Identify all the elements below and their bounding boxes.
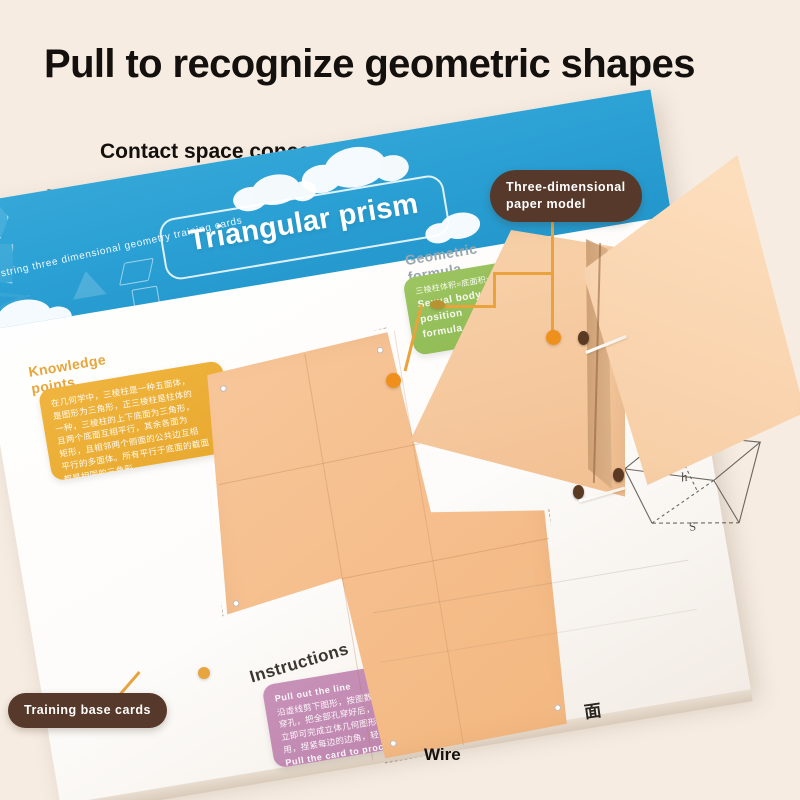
hexagon-outline-icon [0, 197, 12, 244]
rectangle-outline-icon [131, 286, 163, 330]
connector-segment [551, 216, 554, 274]
connector-dot-geometric-formula [430, 300, 445, 309]
product-marketing-image: Pull to recognize geometric shapes Conta… [0, 0, 800, 800]
model-hole [578, 331, 589, 345]
connector-segment [437, 305, 495, 308]
callout-badge-paper-model: Three-dimensional paper model [490, 170, 642, 222]
model-hole [613, 468, 624, 482]
connector-dot-model [546, 330, 561, 345]
callout-badge-training-base-cards: Training base cards [8, 693, 167, 728]
model-hole [573, 485, 584, 499]
page-title: Pull to recognize geometric shapes [44, 42, 695, 87]
connector-segment [551, 272, 554, 326]
cloud-icon [0, 296, 53, 332]
face-character-label: 面 [582, 696, 602, 723]
connector-segment [493, 272, 496, 308]
connector-dot-net [386, 373, 401, 388]
connector-segment [493, 272, 553, 275]
triangle-outline-icon [69, 268, 107, 299]
diamond-outline-icon [119, 258, 154, 286]
wire-label: Wire [424, 745, 461, 765]
quadrilateral-outline-icon [0, 237, 20, 290]
connector-dot-training-cards [198, 667, 210, 679]
